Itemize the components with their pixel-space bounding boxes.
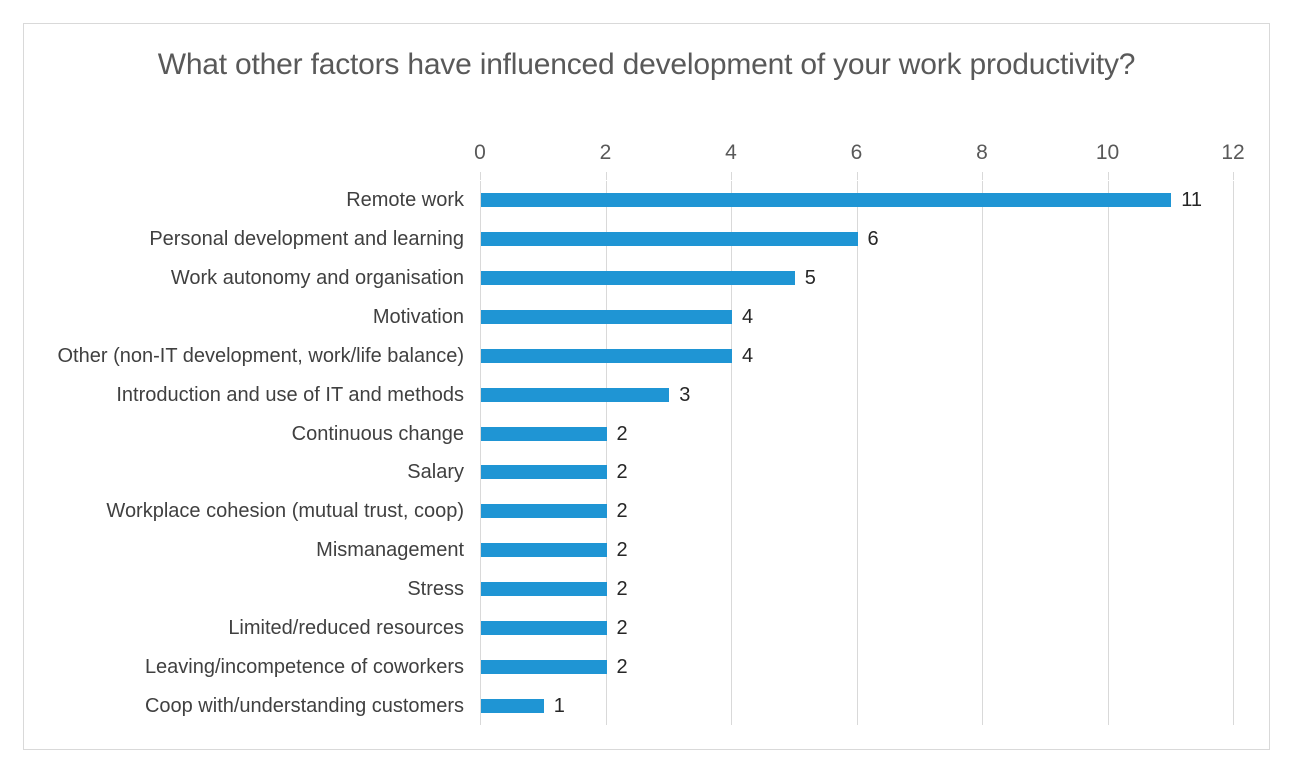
bar-value-label: 5	[805, 266, 816, 290]
bar-row[interactable]: Personal development and learning6	[480, 220, 1233, 259]
bar-value-label: 2	[617, 499, 628, 523]
bar-value-label: 6	[868, 227, 879, 251]
x-axis-tick-mark	[1108, 172, 1109, 180]
bar-row[interactable]: Mismanagement2	[480, 531, 1233, 570]
category-label: Leaving/incompetence of coworkers	[145, 655, 464, 679]
bar[interactable]	[481, 193, 1171, 207]
x-axis-tick-mark	[480, 172, 481, 180]
bar-value-label: 4	[742, 305, 753, 329]
x-axis-tick-mark	[1233, 172, 1234, 180]
bar[interactable]	[481, 349, 732, 363]
bar-row[interactable]: Workplace cohesion (mutual trust, coop)2	[480, 492, 1233, 531]
x-axis-tick-label: 6	[851, 141, 863, 165]
category-label: Mismanagement	[316, 538, 464, 562]
bar[interactable]	[481, 427, 607, 441]
bar[interactable]	[481, 388, 669, 402]
chart-title: What other factors have influenced devel…	[84, 44, 1209, 85]
bar-row[interactable]: Coop with/understanding customers1	[480, 686, 1233, 725]
category-label: Continuous change	[292, 422, 464, 446]
bar-value-label: 3	[679, 383, 690, 407]
category-label: Personal development and learning	[149, 227, 464, 251]
x-axis-tick-label: 2	[600, 141, 612, 165]
bar[interactable]	[481, 660, 607, 674]
x-axis-tick-label: 8	[976, 141, 988, 165]
category-label: Introduction and use of IT and methods	[116, 383, 464, 407]
bar-row[interactable]: Work autonomy and organisation5	[480, 259, 1233, 298]
bar-row[interactable]: Motivation4	[480, 298, 1233, 337]
x-axis-tick-label: 4	[725, 141, 737, 165]
category-label: Limited/reduced resources	[228, 616, 464, 640]
category-label: Work autonomy and organisation	[171, 266, 464, 290]
bar[interactable]	[481, 465, 607, 479]
bar-value-label: 2	[617, 422, 628, 446]
bar-row[interactable]: Leaving/incompetence of coworkers2	[480, 647, 1233, 686]
bar-row[interactable]: Stress2	[480, 570, 1233, 609]
category-label: Other (non-IT development, work/life bal…	[58, 344, 465, 368]
bar[interactable]	[481, 699, 544, 713]
bar-row[interactable]: Limited/reduced resources2	[480, 608, 1233, 647]
bar[interactable]	[481, 232, 858, 246]
bar-value-label: 2	[617, 460, 628, 484]
plot-area[interactable]: 024681012 Remote work11Personal developm…	[480, 181, 1233, 725]
bar[interactable]	[481, 310, 732, 324]
x-axis-tick-mark	[857, 172, 858, 180]
x-axis-tick-label: 12	[1221, 141, 1244, 165]
chart-container[interactable]: What other factors have influenced devel…	[23, 23, 1270, 750]
bar-value-label: 11	[1181, 188, 1202, 212]
category-label: Motivation	[373, 305, 464, 329]
bar[interactable]	[481, 543, 607, 557]
bar-value-label: 2	[617, 655, 628, 679]
bar-value-label: 2	[617, 616, 628, 640]
category-label: Salary	[407, 460, 464, 484]
bar[interactable]	[481, 582, 607, 596]
category-label: Coop with/understanding customers	[145, 694, 464, 718]
category-label: Remote work	[346, 188, 464, 212]
bar-value-label: 1	[554, 694, 565, 718]
x-axis-tick-mark	[731, 172, 732, 180]
bar-row[interactable]: Other (non-IT development, work/life bal…	[480, 336, 1233, 375]
x-axis-tick-mark	[982, 172, 983, 180]
bar-value-label: 4	[742, 344, 753, 368]
bar[interactable]	[481, 271, 795, 285]
category-label: Workplace cohesion (mutual trust, coop)	[106, 499, 464, 523]
bar-value-label: 2	[617, 577, 628, 601]
bar[interactable]	[481, 504, 607, 518]
bar[interactable]	[481, 621, 607, 635]
x-axis-tick-label: 10	[1096, 141, 1119, 165]
bar-row[interactable]: Introduction and use of IT and methods3	[480, 375, 1233, 414]
bar-value-label: 2	[617, 538, 628, 562]
bar-row[interactable]: Continuous change2	[480, 414, 1233, 453]
bar-row[interactable]: Salary2	[480, 453, 1233, 492]
bar-row[interactable]: Remote work11	[480, 181, 1233, 220]
x-axis-tick-mark	[606, 172, 607, 180]
category-label: Stress	[407, 577, 464, 601]
x-axis-tick-label: 0	[474, 141, 486, 165]
gridline	[1233, 181, 1234, 725]
